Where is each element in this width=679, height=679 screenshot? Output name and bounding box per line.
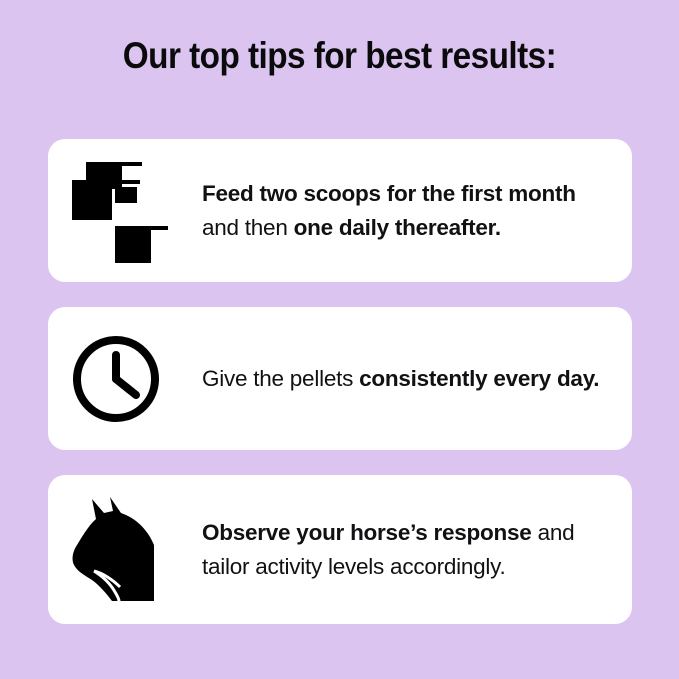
tip-icon-slot: [48, 139, 202, 282]
tip-icon-slot: [48, 475, 202, 624]
tip-text-segment: Give the pellets: [202, 366, 359, 391]
tip-text: Give the pellets consistently every day.: [202, 362, 632, 396]
tip-card-consistency: Give the pellets consistently every day.: [48, 307, 632, 450]
tip-text-segment: Observe your horse’s response: [202, 520, 532, 545]
tip-card-observe: Observe your horse’s response and tailor…: [48, 475, 632, 624]
tip-text-segment: one daily thereafter.: [294, 215, 501, 240]
tips-infographic: Our top tips for best results:: [0, 0, 679, 679]
tip-text-segment: Feed two scoops for the first month: [202, 181, 576, 206]
tip-text-segment: consistently every day.: [359, 366, 599, 391]
horse-head-icon: [66, 493, 170, 605]
tip-card-feeding: Feed two scoops for the first month and …: [48, 139, 632, 282]
tips-card-list: Feed two scoops for the first month and …: [48, 139, 632, 624]
measuring-scoops-icon: [60, 157, 180, 265]
tip-icon-slot: [48, 307, 202, 450]
tip-text: Observe your horse’s response and tailor…: [202, 516, 632, 583]
page-title: Our top tips for best results:: [34, 34, 645, 78]
clock-icon: [70, 333, 162, 425]
tip-text: Feed two scoops for the first month and …: [202, 177, 632, 244]
tip-text-segment: and then: [202, 215, 294, 240]
